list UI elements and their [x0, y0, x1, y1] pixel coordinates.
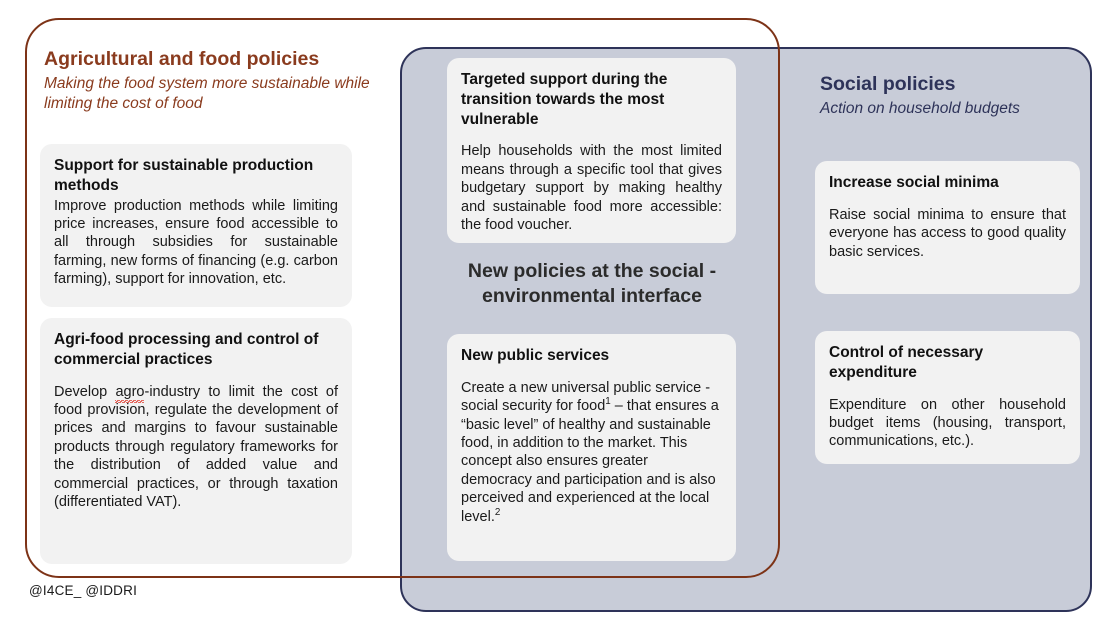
card-body: Create a new universal public service - …: [461, 379, 722, 526]
spellcheck-flagged-word: agro: [115, 383, 144, 401]
card-heading: Targeted support during the transition t…: [461, 70, 722, 129]
card-heading: Control of necessary expenditure: [829, 343, 1066, 383]
footnote-marker-2: 2: [495, 507, 500, 518]
social-column-subtitle: Action on household budgets: [820, 99, 1085, 119]
card-support-sustainable-production: Support for sustainable production metho…: [40, 144, 352, 307]
footer-social-handles: @I4CE_ @IDDRI: [29, 583, 137, 598]
card-increase-social-minima: Increase social minima Raise social mini…: [815, 161, 1080, 294]
body-text-before: Develop: [54, 384, 115, 400]
body-text-part-2: – that ensures a “basic level” of health…: [461, 398, 719, 524]
agricultural-column-title: Agricultural and food policies: [44, 48, 384, 72]
social-column-title: Social policies: [820, 73, 1085, 97]
card-body: Develop agro-industry to limit the cost …: [54, 383, 338, 512]
agricultural-column-subtitle: Making the food system more sustainable …: [44, 74, 384, 114]
card-heading: Increase social minima: [829, 173, 1066, 193]
card-body: Help households with the most limited me…: [461, 142, 722, 234]
card-targeted-support: Targeted support during the transition t…: [447, 58, 736, 243]
card-heading: Support for sustainable production metho…: [54, 156, 338, 196]
card-heading: Agri-food processing and control of comm…: [54, 330, 338, 370]
card-agrifood-processing: Agri-food processing and control of comm…: [40, 318, 352, 564]
card-new-public-services: New public services Create a new univers…: [447, 334, 736, 561]
card-body: Improve production methods while limitin…: [54, 197, 338, 289]
body-text-after: -industry to limit the cost of food prov…: [54, 384, 338, 510]
agricultural-column-header: Agricultural and food policies Making th…: [44, 48, 384, 113]
card-heading: New public services: [461, 346, 722, 366]
card-body: Raise social minima to ensure that every…: [829, 206, 1066, 261]
social-column-header: Social policies Action on household budg…: [820, 73, 1085, 119]
card-control-necessary-expenditure: Control of necessary expenditure Expendi…: [815, 331, 1080, 464]
card-body: Expenditure on other household budget it…: [829, 396, 1066, 451]
centre-section-heading: New policies at the social - environment…: [432, 259, 752, 309]
diagram-canvas: Agricultural and food policies Making th…: [0, 0, 1108, 624]
